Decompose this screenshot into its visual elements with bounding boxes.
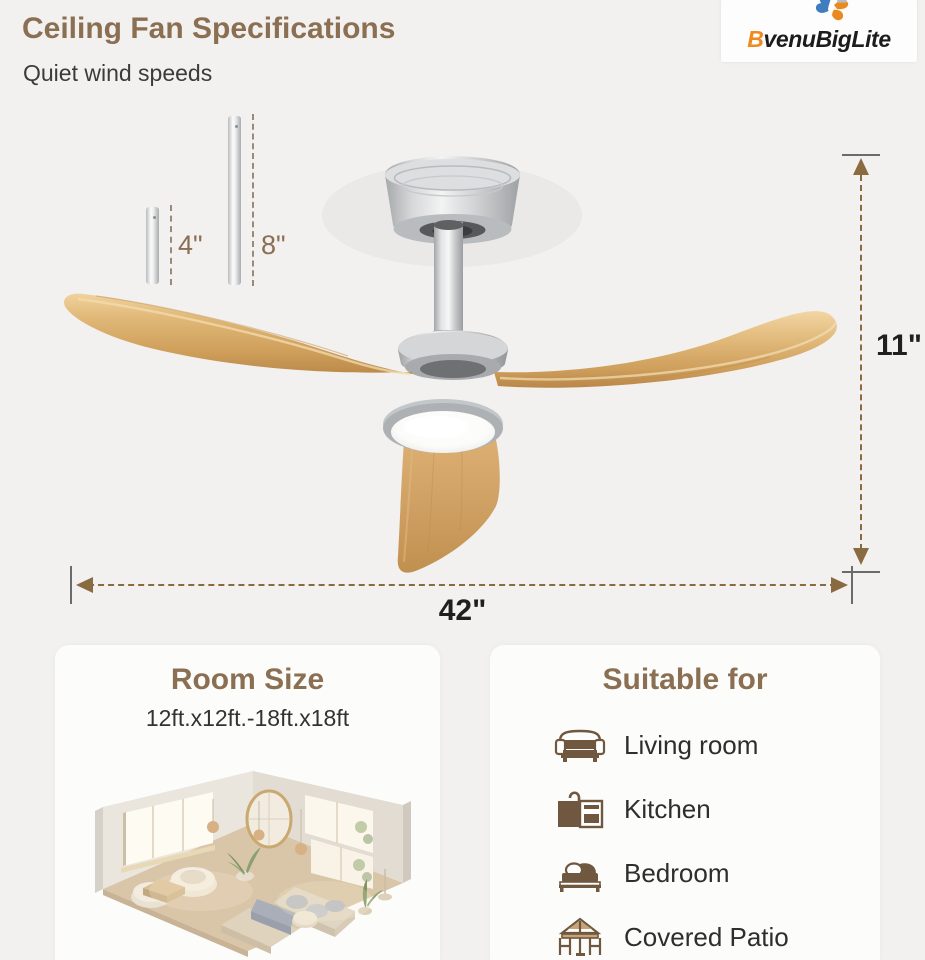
suitable-item-label: Bedroom [624,858,730,889]
width-dimension-label: 42" [0,594,925,628]
width-dimension-line [78,584,846,586]
room-size-title: Room Size [55,663,440,697]
bed-icon [552,850,608,896]
sofa-icon [552,722,608,768]
height-dimension-label: 11" [876,329,922,363]
ceiling-fan-illustration [0,0,925,640]
height-dim-bottom-cap [842,571,880,573]
fan-led-light [383,399,503,453]
height-dim-top-cap [842,154,880,156]
kitchen-sink-icon [552,786,608,832]
suitable-item-label: Covered Patio [624,922,789,953]
room-size-card: Room Size 12ft.x12ft.-18ft.x18ft [55,645,440,960]
fan-downrod [434,222,463,340]
product-spec-image: Ceiling Fan Specifications Quiet wind sp… [0,0,925,960]
suitable-item-kitchen: Kitchen [552,777,880,841]
suitable-for-list: Living room Kitchen [490,713,880,960]
fan-motor-housing [398,331,508,381]
height-dimension-line [860,165,862,560]
suitable-for-title: Suitable for [490,663,880,697]
suitable-item-label: Kitchen [624,794,711,825]
suitable-item-covered-patio: Covered Patio [552,905,880,960]
width-dim-arrow-right [831,577,848,593]
suitable-item-bedroom: Bedroom [552,841,880,905]
fan-blade-center [398,440,500,573]
isometric-living-room-illustration [73,761,423,960]
suitable-item-label: Living room [624,730,758,761]
suitable-for-card: Suitable for Living room [490,645,880,960]
height-dim-arrow-down [853,548,869,565]
suitable-item-living-room: Living room [552,713,880,777]
room-size-value: 12ft.x12ft.-18ft.x18ft [55,705,440,732]
patio-umbrella-icon [552,914,608,960]
